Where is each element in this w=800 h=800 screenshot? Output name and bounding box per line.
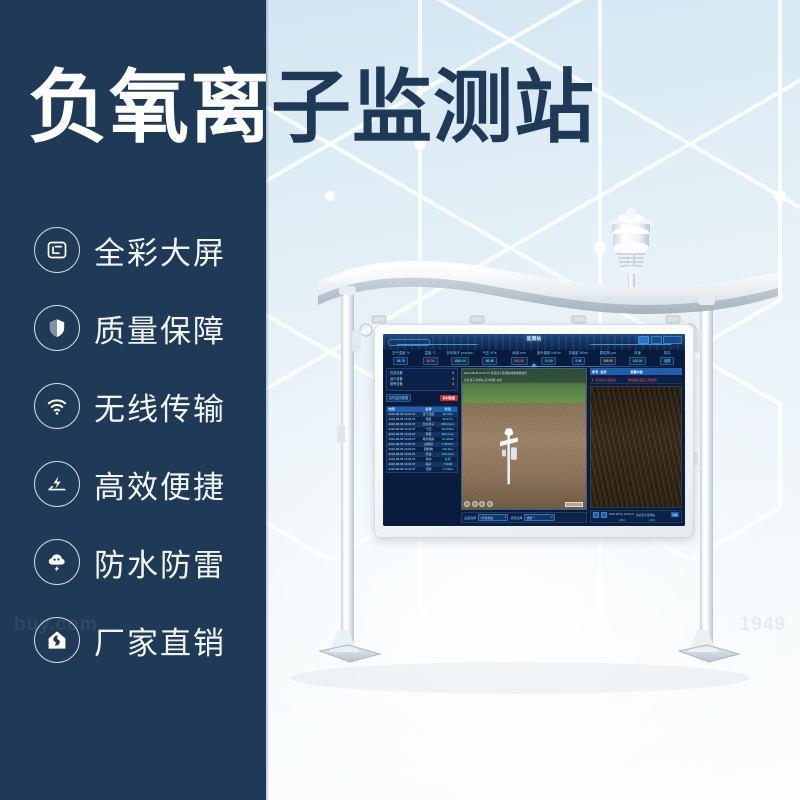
left-column: 在线设备 1 运行设备 1 报警设备 1 <box>386 368 458 523</box>
map-value-2: 2291 <box>649 519 655 522</box>
camera-progress-bar[interactable] <box>565 502 583 507</box>
camera-osd-info: 负氧离子监测站 实时视频 在线 <box>464 378 502 382</box>
alarm-name: 负氧离子监测站 <box>596 378 616 382</box>
metric-value: 1864.00 <box>451 357 470 365</box>
map-tool-layer-icon[interactable] <box>601 512 607 518</box>
post-collar-right <box>698 296 715 305</box>
metric-card: 雨量 mm 601.00 <box>504 351 534 364</box>
secondary-camera-view[interactable] <box>590 386 682 509</box>
weather-station-in-frame <box>499 425 519 487</box>
metric-value: 21.00 <box>541 357 556 365</box>
secondary-camera-texture <box>591 387 681 508</box>
cell-name: 光照 <box>419 467 439 472</box>
metric-card: 紫外辐射 uW/m 21.00 <box>534 351 564 364</box>
metric-card: 风速 100.00 <box>623 351 653 364</box>
dashboard-body: 在线设备 1 运行设备 1 报警设备 1 <box>386 368 682 523</box>
device-stats: 在线设备 1 运行设备 1 报警设备 1 <box>386 368 458 391</box>
metric-label: 风速 <box>623 351 653 356</box>
canopy <box>318 261 778 314</box>
metric-label: 雨量 mm <box>504 351 534 356</box>
metric-label: 总辐射 W/m² <box>564 351 594 356</box>
camera-osd-timestamp: 2022-08-05 10:01:07 负氧离子监测站前端视频监控 <box>464 371 527 375</box>
camera-texture <box>462 369 586 509</box>
camera-feed[interactable]: 2022-08-05 10:01:07 负氧离子监测站前端视频监控 负氧离子监测… <box>461 368 587 510</box>
alarm-column-name: 名称 <box>600 369 606 374</box>
device-select-label: 设备选择 <box>464 516 476 520</box>
cell-value: 77.00lux <box>439 467 458 472</box>
metric-value: 3.46 <box>572 357 585 365</box>
map-tool-zoom-icon[interactable] <box>593 512 599 518</box>
divider-node-icon <box>533 364 536 367</box>
metric-label: 风向 <box>652 351 682 356</box>
channel-select-label: 通道选择 <box>510 516 522 520</box>
metric-card: 气压 hPa 98.46 <box>475 351 505 364</box>
channel-select-value: 通道一 <box>527 516 535 520</box>
table-row[interactable]: 2022-08-05 10:01:07 光照 77.00lux <box>387 467 457 472</box>
header-action-user[interactable] <box>663 336 682 344</box>
alarm-column-index: 序号 <box>592 369 598 374</box>
device-select-value: 1号监测站 <box>480 516 493 520</box>
metric-card: 风向 北风 <box>652 351 682 364</box>
channel-select[interactable]: 通道一 ▾ <box>524 514 554 522</box>
metric-label: 空气湿度 % <box>386 351 416 356</box>
metric-label: 紫外辐射 uW/m <box>534 351 564 356</box>
metric-card: 总辐射 W/m² 3.46 <box>564 351 594 364</box>
bracket-arm-left <box>352 330 361 352</box>
map-footer-top: 2022-08-05 10:01:07 负氧离子监测站 详情 <box>593 512 679 518</box>
stat-row: 报警设备 1 <box>390 382 454 388</box>
chevron-down-icon: ▾ <box>551 516 552 519</box>
right-column: 序号 名称 报警内容 1 负氧离子监测站 数值超出设定上限报警 <box>590 368 682 523</box>
header-actions <box>638 336 682 344</box>
metric-value: 601.00 <box>511 357 528 365</box>
metric-value: 100.00 <box>629 357 646 365</box>
metric-card: 温度 ℃ 26.34 <box>416 351 446 364</box>
alarm-text: 数值超出设定上限报警 <box>628 378 657 382</box>
promo-banner: 负氧离子监测站 负氧离子监测站 全彩大屏 质量保障 <box>0 0 800 800</box>
map-value-1: 1864 <box>619 519 625 522</box>
center-column: 2022-08-05 10:01:07 负氧离子监测站前端视频监控 负氧离子监测… <box>461 368 587 523</box>
metric-value: 北风 <box>660 357 673 365</box>
ptz-right-icon[interactable] <box>487 501 493 507</box>
metric-card: 颗粒物 μm 100.00 <box>593 351 623 364</box>
display-unit: 监测站 空气湿度 % 56.78 温度 ℃ <box>374 324 694 538</box>
metric-card: 负氧离子 pcs/cm³ 1864.00 <box>445 351 475 364</box>
metric-value: 56.78 <box>393 357 408 365</box>
metric-card: 空气湿度 % 56.78 <box>386 351 416 364</box>
alarm-column-content: 报警内容 <box>630 369 642 374</box>
display-glass: 监测站 空气湿度 % 56.78 温度 ℃ <box>383 334 685 526</box>
alarm-header-row: 序号 名称 报警内容 <box>590 368 682 375</box>
dashboard-title: 监测站 <box>527 336 542 342</box>
camera-ptz-controls[interactable] <box>464 501 493 507</box>
metric-value: 100.00 <box>600 357 617 365</box>
alarm-index: 1 <box>592 378 594 382</box>
map-detail-button[interactable]: 详情 <box>671 512 679 517</box>
dashboard: 监测站 空气湿度 % 56.78 温度 ℃ <box>383 334 685 526</box>
post-collar-left <box>339 286 356 295</box>
metric-label: 温度 ℃ <box>416 351 446 356</box>
camera-control-bar: 设备选择 1号监测站 ▾ 通道选择 通道一 ▾ <box>461 512 587 523</box>
cell-time: 2022-08-05 10:01:07 <box>387 467 419 472</box>
map-footer: 2022-08-05 10:01:07 负氧离子监测站 详情 1864 2291 <box>590 510 682 523</box>
dashboard-header: 监测站 <box>383 334 685 350</box>
metric-value: 26.34 <box>423 357 438 365</box>
ptz-up-icon[interactable] <box>464 501 470 507</box>
header-action-system[interactable] <box>638 336 649 344</box>
metric-label: 气压 hPa <box>475 351 505 356</box>
realtime-data-button[interactable]: 实时数据 <box>440 395 458 402</box>
data-table: 时间 名称 数值 2022-08-05 10:01:07 空气湿度 56.78%… <box>386 406 458 474</box>
map-footer-label-left: 2022-08-05 10:01:07 <box>609 513 634 516</box>
map-footer-values: 1864 2291 <box>593 519 679 522</box>
ptz-down-icon[interactable] <box>472 501 478 507</box>
metric-value: 98.46 <box>482 357 497 365</box>
support-post-right <box>700 292 713 663</box>
stat-label: 报警设备 <box>390 382 403 388</box>
table-toolbar: 实时监测数据 实时数据 <box>386 394 458 403</box>
alarm-row[interactable]: 1 负氧离子监测站 数值超出设定上限报警 <box>590 377 682 384</box>
stat-value: 1 <box>452 382 454 388</box>
metric-label: 颗粒物 μm <box>593 351 623 356</box>
table-title: 实时监测数据 <box>386 394 411 403</box>
chevron-down-icon: ▾ <box>505 516 506 519</box>
ptz-left-icon[interactable] <box>479 501 485 507</box>
metric-strip: 空气湿度 % 56.78 温度 ℃ 26.34 负氧离子 pcs/cm³ 186… <box>386 351 682 364</box>
map-footer-label-right: 负氧离子监测站 <box>636 513 655 517</box>
metric-label: 负氧离子 pcs/cm³ <box>445 351 475 356</box>
support-post-left <box>337 283 354 663</box>
header-action-settings[interactable] <box>651 336 662 344</box>
device-select[interactable]: 1号监测站 ▾ <box>478 514 508 522</box>
